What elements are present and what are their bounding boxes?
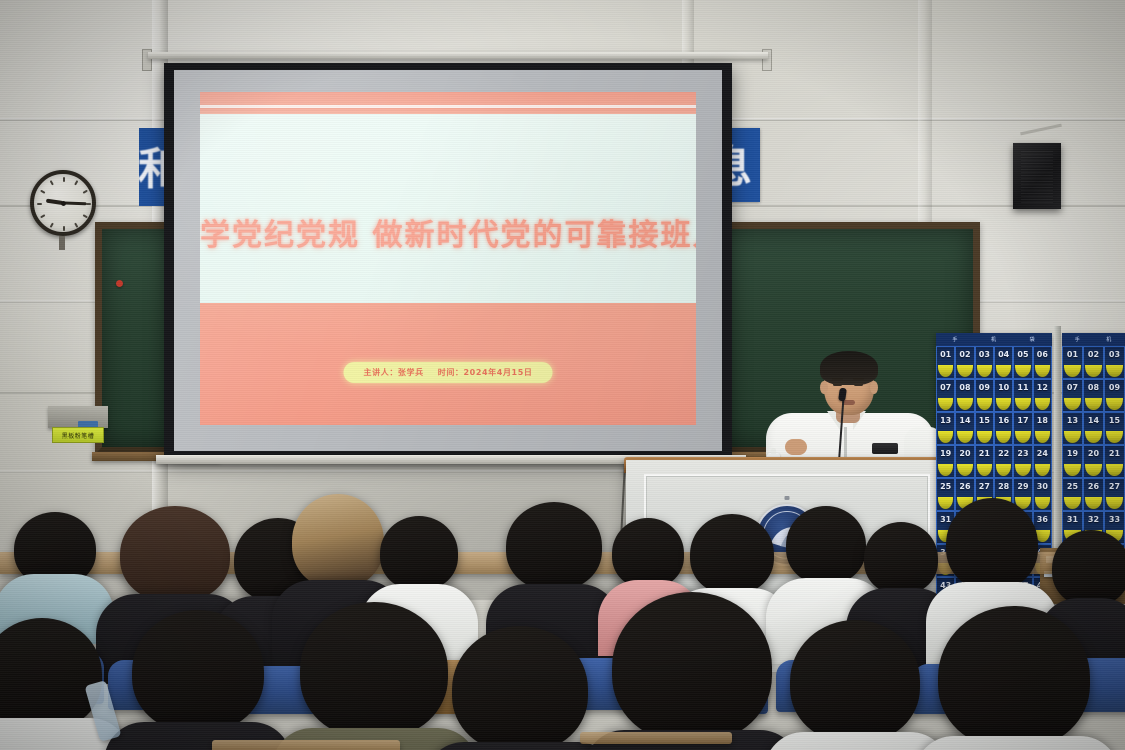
pocket-number: 07 (940, 383, 951, 392)
audience-head (120, 506, 230, 602)
clock-tick (50, 180, 54, 185)
presenter-badge (872, 443, 898, 454)
pocket-number: 01 (940, 350, 951, 359)
pocket-number: 21 (1109, 449, 1120, 458)
pocket-pouch (1106, 398, 1123, 410)
presenter-ear (870, 381, 878, 394)
pocket-cell: 14 (955, 412, 974, 445)
slide-credits-pill: 主讲人：张学兵 时间：2024年4月15日 (344, 362, 553, 383)
pocket-pouch (1035, 365, 1050, 377)
pocket-number: 17 (1017, 416, 1028, 425)
pocket-number: 15 (1109, 416, 1120, 425)
pocket-cell: 13 (1062, 412, 1083, 445)
presenter-hand (785, 439, 807, 455)
audience-head (946, 498, 1038, 590)
pocket-pouch (1106, 365, 1123, 377)
audience-body (764, 732, 950, 750)
presenter-ear (820, 381, 828, 394)
pocket-pouch (1015, 431, 1030, 443)
clock-tick (37, 203, 42, 205)
pocket-pouch (996, 431, 1011, 443)
pocket-chart-header-char: 机 (1106, 336, 1112, 343)
pocket-number: 19 (1067, 449, 1078, 458)
pocket-pouch (1015, 398, 1030, 410)
pocket-cell: 17 (1013, 412, 1032, 445)
pocket-pouch (1085, 431, 1102, 443)
desk-front (580, 732, 732, 744)
pocket-number: 03 (979, 350, 990, 359)
pocket-pouch (977, 398, 992, 410)
clock-tick (74, 223, 78, 228)
pocket-pouch (977, 365, 992, 377)
pocket-pouch (938, 431, 953, 443)
clock-tick (83, 214, 88, 218)
presenter-eye (854, 383, 863, 386)
pocket-number: 23 (1017, 449, 1028, 458)
pocket-number: 09 (1109, 383, 1120, 392)
pocket-number: 03 (1109, 350, 1120, 359)
pocket-cell: 01 (936, 346, 955, 379)
pocket-number: 20 (1088, 449, 1099, 458)
audience-head (380, 516, 458, 590)
pocket-number: 24 (1037, 449, 1048, 458)
slide-date: 时间：2024年4月15日 (438, 367, 533, 378)
clock-center-pin (61, 201, 66, 206)
pocket-number: 10 (998, 383, 1009, 392)
clock-mount (59, 236, 65, 250)
pocket-pouch (957, 365, 972, 377)
clock-tick (83, 190, 88, 194)
pocket-number: 13 (940, 416, 951, 425)
pocket-cell: 08 (1083, 379, 1104, 412)
pocket-number: 11 (1017, 383, 1028, 392)
pocket-chart-header: 手 机 (1062, 333, 1125, 346)
pocket-cell: 03 (1104, 346, 1125, 379)
slide-presenter: 主讲人：张学兵 (364, 367, 424, 378)
audience-head (1052, 530, 1125, 606)
pocket-chart-header-char: 袋 (1030, 336, 1036, 343)
pocket-number: 18 (1037, 416, 1048, 425)
presenter-eyebrow (832, 378, 843, 380)
audience-head (612, 592, 772, 742)
pocket-chart-header-char: 手 (952, 336, 958, 343)
pocket-chart-header-char: 手 (1075, 336, 1081, 343)
pocket-number: 21 (979, 449, 990, 458)
presenter (780, 355, 920, 470)
pocket-cell: 07 (936, 379, 955, 412)
pocket-number: 13 (1067, 416, 1078, 425)
pocket-number: 16 (998, 416, 1009, 425)
wall-clock (30, 170, 96, 236)
pocket-pouch (1085, 365, 1102, 377)
audience-head (300, 602, 448, 738)
projection-screen: 学党纪党规 做新时代党的可靠接班人 主讲人：张学兵 时间：2024年4月15日 (164, 63, 732, 460)
pocket-number: 19 (940, 449, 951, 458)
pocket-number: 08 (1088, 383, 1099, 392)
pocket-cell: 10 (994, 379, 1013, 412)
pocket-pouch (1064, 365, 1081, 377)
pocket-number: 04 (998, 350, 1009, 359)
audience-area (0, 470, 1125, 750)
pocket-cell: 15 (975, 412, 994, 445)
chalkboard-ledge-label: 黑板粉笔槽 (52, 427, 104, 443)
pocket-number: 01 (1067, 350, 1078, 359)
audience-head (864, 522, 938, 594)
pocket-pouch (938, 398, 953, 410)
pocket-chart-header-char: 机 (991, 336, 997, 343)
audience-head (292, 494, 384, 588)
pocket-pouch (977, 431, 992, 443)
audience-head (790, 620, 920, 742)
pocket-pouch (1035, 431, 1050, 443)
pocket-number: 22 (998, 449, 1009, 458)
clock-tick (50, 223, 54, 228)
pocket-pouch (1106, 431, 1123, 443)
pocket-number: 02 (959, 350, 970, 359)
pocket-pouch (996, 398, 1011, 410)
presentation-slide: 学党纪党规 做新时代党的可靠接班人 主讲人：张学兵 时间：2024年4月15日 (200, 92, 696, 425)
audience-head (786, 506, 866, 584)
screen-surface: 学党纪党规 做新时代党的可靠接班人 主讲人：张学兵 时间：2024年4月15日 (174, 70, 722, 451)
lecture-hall-photo: 和 息 黑板粉笔槽 (0, 0, 1125, 750)
pocket-number: 07 (1067, 383, 1078, 392)
pocket-cell: 09 (975, 379, 994, 412)
pocket-cell: 02 (1083, 346, 1104, 379)
pocket-cell: 18 (1033, 412, 1052, 445)
pocket-cell: 09 (1104, 379, 1125, 412)
audience-head (132, 610, 264, 732)
audience-head (690, 514, 774, 594)
audience-head (938, 606, 1090, 748)
clock-tick (40, 214, 45, 218)
slide-top-band (200, 92, 696, 105)
wall-speaker-icon (1013, 143, 1061, 209)
pocket-number: 05 (1017, 350, 1028, 359)
pocket-cell: 07 (1062, 379, 1083, 412)
pocket-number: 12 (1037, 383, 1048, 392)
clock-tick (63, 226, 65, 231)
pocket-number: 15 (979, 416, 990, 425)
clock-tick (74, 180, 78, 185)
audience-head (452, 626, 588, 750)
pocket-cell: 15 (1104, 412, 1125, 445)
pocket-pouch (938, 365, 953, 377)
pocket-number: 09 (979, 383, 990, 392)
pocket-number: 14 (959, 416, 970, 425)
audience-head (506, 502, 602, 590)
pocket-number: 08 (959, 383, 970, 392)
pocket-cell: 05 (1013, 346, 1032, 379)
pocket-cell: 16 (994, 412, 1013, 445)
pocket-cell: 14 (1083, 412, 1104, 445)
pocket-number: 06 (1037, 350, 1048, 359)
pocket-pouch (1064, 398, 1081, 410)
desk-front (212, 740, 400, 750)
presenter-hair (820, 351, 878, 385)
presenter-eyebrow (853, 378, 864, 380)
audience-body (914, 736, 1120, 750)
clock-tick (86, 203, 91, 205)
magnet-icon (116, 280, 123, 287)
clock-tick (63, 177, 65, 182)
pocket-cell: 08 (955, 379, 974, 412)
presenter-eye (833, 383, 842, 386)
pocket-number: 02 (1088, 350, 1099, 359)
pocket-pouch (1035, 398, 1050, 410)
pocket-cell: 01 (1062, 346, 1083, 379)
pocket-cell: 04 (994, 346, 1013, 379)
clock-tick (40, 190, 45, 194)
screen-rail (148, 52, 768, 59)
pocket-pouch (957, 398, 972, 410)
slide-title: 学党纪党规 做新时代党的可靠接班人 (200, 210, 696, 254)
pocket-cell: 13 (936, 412, 955, 445)
pocket-pouch (996, 365, 1011, 377)
pocket-pouch (957, 431, 972, 443)
pocket-pouch (1015, 365, 1030, 377)
pocket-pouch (1085, 398, 1102, 410)
pocket-cell: 03 (975, 346, 994, 379)
pocket-pouch (1064, 431, 1081, 443)
pocket-number: 14 (1088, 416, 1099, 425)
pocket-cell: 11 (1013, 379, 1032, 412)
pocket-cell: 06 (1033, 346, 1052, 379)
slide-body (200, 114, 696, 303)
clock-minute-hand (63, 202, 86, 206)
pocket-chart-header: 手 机 袋 (936, 333, 1052, 346)
pocket-cell: 12 (1033, 379, 1052, 412)
pocket-number: 20 (959, 449, 970, 458)
pocket-cell: 02 (955, 346, 974, 379)
audience-head (612, 518, 684, 588)
